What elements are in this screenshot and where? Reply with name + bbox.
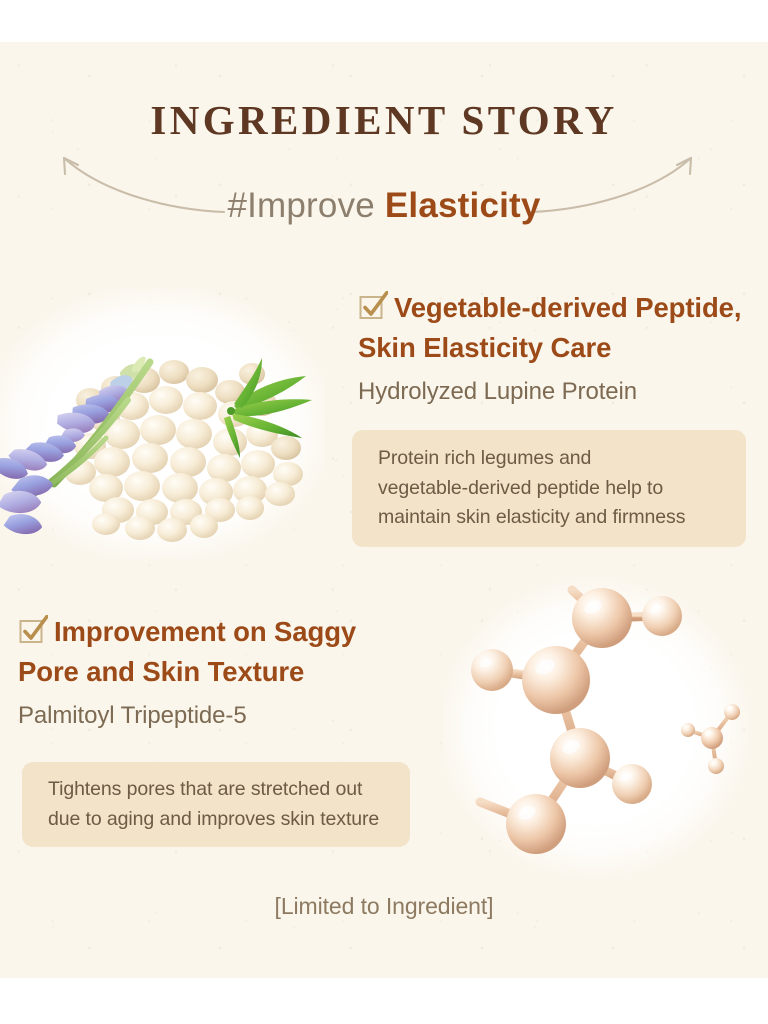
- page-title: INGREDIENT STORY: [0, 96, 768, 144]
- subtitle-prefix: #Improve: [227, 186, 384, 225]
- block-1-heading-line2: Skin Elasticity Care: [358, 330, 758, 366]
- lupine-beans-and-flowers-photo: [0, 288, 324, 560]
- block-1-description-line-3: maintain skin elasticity and firmness: [378, 503, 746, 533]
- ingredient-block-1: Vegetable-derived Peptide, Skin Elastici…: [358, 290, 758, 407]
- block-1-heading-line1: Vegetable-derived Peptide,: [394, 292, 741, 323]
- block-1-description-line-2: vegetable-derived peptide help to: [378, 474, 746, 504]
- block-2-description-line-1: Tightens pores that are stretched out: [48, 775, 410, 805]
- subtitle-emphasis: Elasticity: [385, 186, 541, 225]
- block-2-description: Tightens pores that are stretched out du…: [22, 762, 410, 847]
- block-1-description-line-1: Protein rich legumes and: [378, 444, 746, 474]
- block-2-heading-line1: Improvement on Saggy: [54, 616, 356, 647]
- block-2-description-line-2: due to aging and improves skin texture: [48, 805, 410, 835]
- ingredient-block-2: Improvement on Saggy Pore and Skin Textu…: [18, 614, 418, 731]
- molecule-structure-illustration: [444, 572, 766, 884]
- subtitle: #Improve Elasticity: [0, 186, 768, 226]
- checkbox-check-icon: [18, 615, 48, 654]
- block-1-subheading: Hydrolyzed Lupine Protein: [358, 376, 758, 407]
- block-1-heading: Vegetable-derived Peptide, Skin Elastici…: [358, 290, 758, 366]
- block-1-description: Protein rich legumes and vegetable-deriv…: [352, 430, 746, 547]
- block-2-subheading: Palmitoyl Tripeptide-5: [18, 700, 418, 731]
- block-2-heading: Improvement on Saggy Pore and Skin Textu…: [18, 614, 418, 690]
- block-2-heading-line2: Pore and Skin Texture: [18, 654, 418, 690]
- footer-note: [Limited to Ingredient]: [0, 893, 768, 920]
- infographic-page: INGREDIENT STORY #Improve Elasticity: [0, 0, 768, 1024]
- checkbox-check-icon: [358, 291, 388, 330]
